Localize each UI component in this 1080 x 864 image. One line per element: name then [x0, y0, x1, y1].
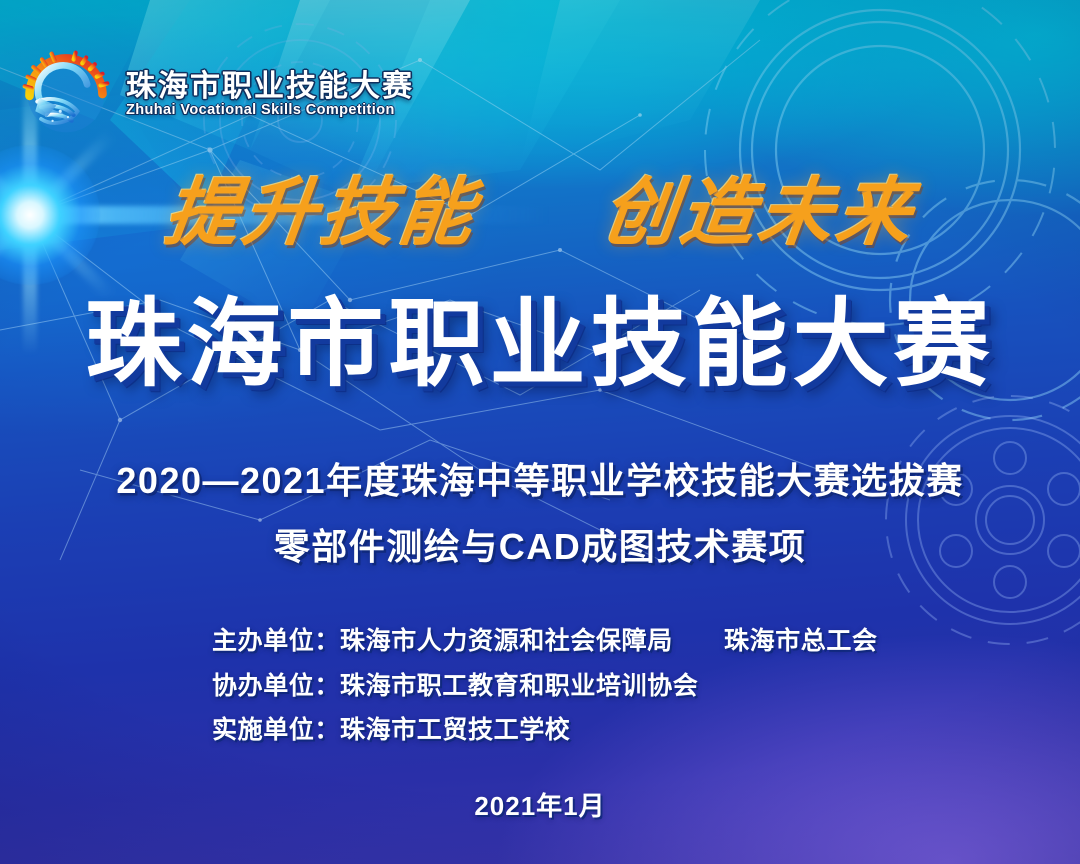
subtitle-block: 2020—2021年度珠海中等职业学校技能大赛选拔赛 零部件测绘与CAD成图技术… [0, 462, 1080, 566]
slogan-part-2: 创造未来 [597, 170, 920, 256]
poster-canvas: 珠海市职业技能大赛 Zhuhai Vocational Skills Compe… [0, 0, 1080, 864]
subtitle-line-2: 零部件测绘与CAD成图技术赛项 [0, 528, 1080, 566]
organizer-row: 协办单位：珠海市职工教育和职业培训协会 [212, 673, 878, 701]
page-title: 珠海市职业技能大赛 [0, 296, 1080, 394]
logo-name-en: Zhuhai Vocational Skills Competition [126, 103, 414, 119]
logo-name-cn: 珠海市职业技能大赛 [126, 71, 414, 103]
organizer-row: 主办单位：珠海市人力资源和社会保障局 珠海市总工会 [212, 628, 878, 656]
gear-phoenix-emblem-icon [18, 46, 114, 142]
organizer-block: 主办单位：珠海市人力资源和社会保障局 珠海市总工会 协办单位：珠海市职工教育和职… [212, 628, 878, 762]
slogan: 提升技能 创造未来 [0, 176, 1080, 250]
organizer-row: 实施单位：珠海市工贸技工学校 [212, 717, 878, 745]
slogan-part-1: 提升技能 [160, 170, 483, 256]
competition-logo: 珠海市职业技能大赛 Zhuhai Vocational Skills Compe… [18, 46, 414, 142]
poster-date: 2021年1月 [0, 786, 1080, 823]
subtitle-line-1: 2020—2021年度珠海中等职业学校技能大赛选拔赛 [0, 462, 1080, 500]
